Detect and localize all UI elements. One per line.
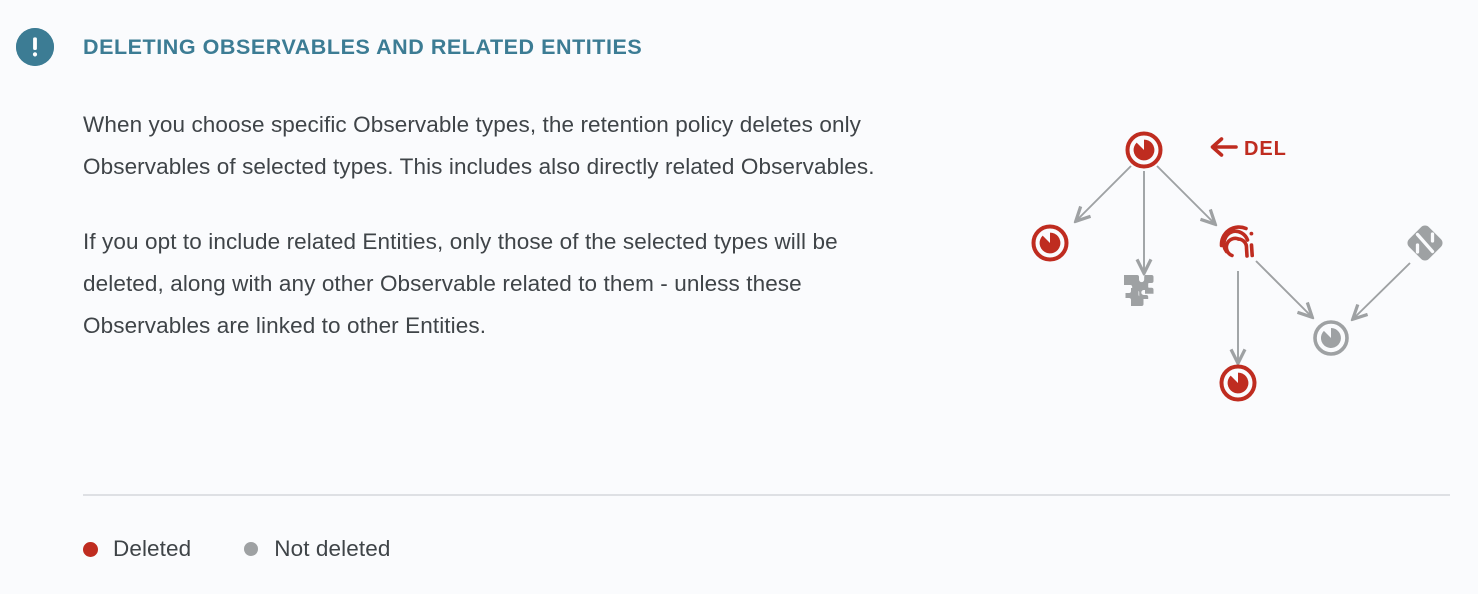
paragraph-1: When you choose specific Observable type… — [83, 104, 918, 188]
edge-diamond-to-mid-clock — [1353, 263, 1410, 319]
node-fingerprint-icon — [1221, 227, 1253, 256]
diagram-edges — [1076, 166, 1410, 363]
exclamation-circle-icon — [16, 28, 54, 66]
node-mid-clock-icon — [1315, 322, 1347, 354]
legend-item-deleted: Deleted — [83, 534, 191, 564]
edge-root-to-fingerprint — [1157, 166, 1215, 224]
page-title: Deleting Observables and related Entitie… — [83, 30, 642, 64]
edge-root-to-left-clock — [1076, 166, 1131, 221]
del-marker: DEL — [1209, 136, 1287, 162]
legend-label-deleted: Deleted — [113, 534, 191, 564]
legend-dot-not-deleted-icon — [244, 542, 258, 556]
legend-label-not-deleted: Not deleted — [274, 534, 390, 564]
retention-policy-callout: Deleting Observables and related Entitie… — [0, 0, 1478, 594]
arrow-left-icon — [1209, 136, 1239, 158]
section-divider — [83, 494, 1450, 496]
del-label-text: DEL — [1244, 138, 1287, 160]
node-puzzle-icon — [1124, 275, 1154, 306]
legend: Deleted Not deleted — [83, 532, 390, 566]
legend-dot-deleted-icon — [83, 542, 98, 557]
node-root-clock-icon — [1128, 134, 1161, 167]
callout-body: When you choose specific Observable type… — [83, 104, 918, 347]
node-diamond-icon — [1405, 223, 1445, 263]
paragraph-2: If you opt to include related Entities, … — [83, 221, 918, 347]
legend-item-not-deleted: Not deleted — [244, 534, 390, 564]
edge-fingerprint-to-mid-clock — [1256, 261, 1312, 317]
node-low-clock-icon — [1222, 367, 1255, 400]
node-left-clock-icon — [1034, 227, 1067, 260]
